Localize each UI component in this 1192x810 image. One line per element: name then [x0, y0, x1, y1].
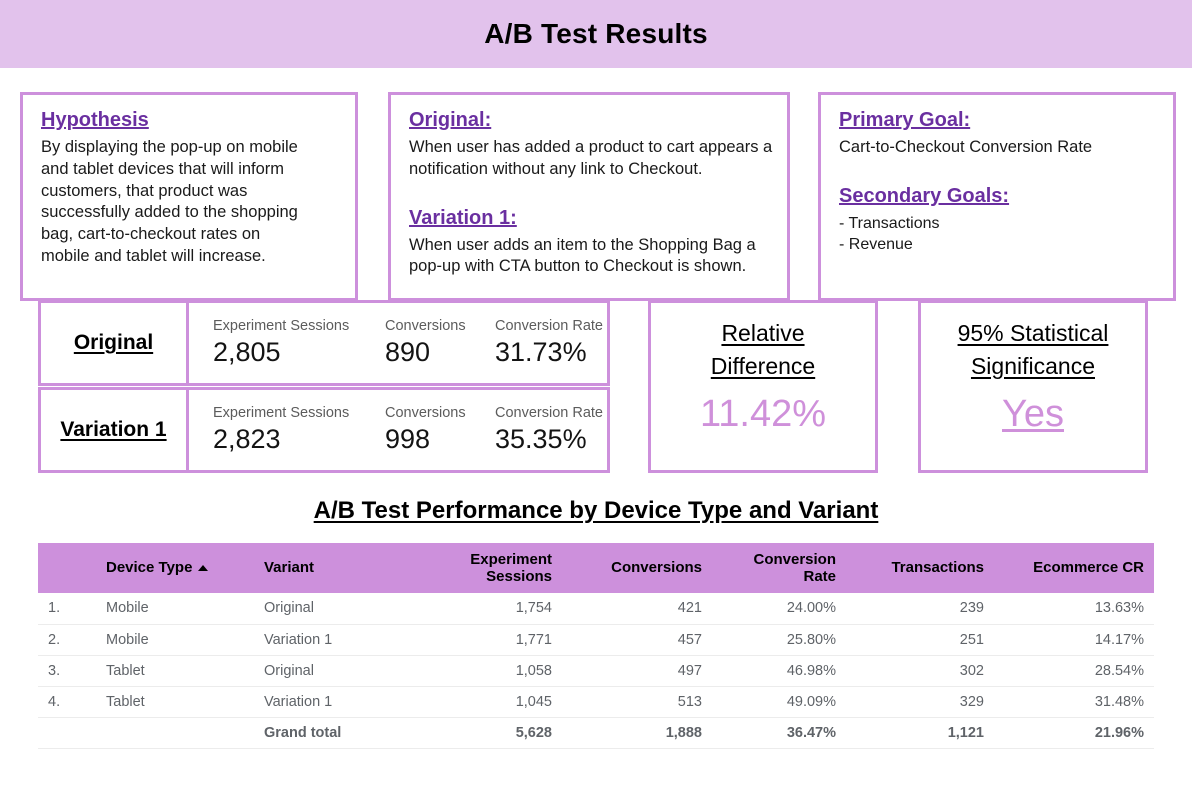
original-stats-block: Original Experiment Sessions 2,805 Conve…	[38, 300, 610, 386]
statistical-significance-title-line2: Significance	[971, 353, 1095, 379]
cell-conversions: 497	[562, 655, 712, 686]
column-header-index	[38, 543, 96, 593]
variation-metrics: Experiment Sessions 2,823 Conversions 99…	[189, 390, 615, 470]
cell-transactions: 302	[846, 655, 994, 686]
primary-goal-body: Cart-to-Checkout Conversion Rate	[839, 137, 1159, 159]
secondary-goal-transactions: - Transactions	[839, 213, 1159, 235]
page-header: A/B Test Results	[0, 0, 1192, 68]
cell-ecommerce-cr: 14.17%	[994, 624, 1154, 655]
performance-table-section: A/B Test Performance by Device Type and …	[0, 497, 1192, 749]
column-header-transactions[interactable]: Transactions	[846, 543, 994, 593]
grand-total-conversions: 1,888	[562, 717, 712, 748]
cell-sessions: 1,058	[412, 655, 562, 686]
table-header-row: Device Type Variant ExperimentSessions C…	[38, 543, 1154, 593]
stats-row: Original Experiment Sessions 2,805 Conve…	[0, 293, 1192, 483]
column-header-experiment-sessions[interactable]: ExperimentSessions	[412, 543, 562, 593]
secondary-goal-revenue: - Revenue	[839, 234, 1159, 256]
original-metrics: Experiment Sessions 2,805 Conversions 89…	[189, 303, 615, 383]
cell-variant: Variation 1	[254, 686, 412, 717]
table-body: 1. Mobile Original 1,754 421 24.00% 239 …	[38, 593, 1154, 748]
goals-card: Primary Goal: Cart-to-Checkout Conversio…	[818, 92, 1176, 301]
cell-device-type: Mobile	[96, 593, 254, 624]
cell-conversion-rate: 24.00%	[712, 593, 846, 624]
metric-label: Conversion Rate	[495, 406, 615, 422]
statistical-significance-value: Yes	[1002, 394, 1064, 436]
table-row[interactable]: 3. Tablet Original 1,058 497 46.98% 302 …	[38, 655, 1154, 686]
grand-total-ecommerce-cr: 21.96%	[994, 717, 1154, 748]
original-label: Original	[41, 303, 189, 383]
relative-difference-title: Relative Difference	[711, 317, 815, 382]
hypothesis-body: By displaying the pop-up on mobile and t…	[41, 137, 309, 268]
original-heading: Original:	[409, 107, 773, 134]
row-index: 4.	[38, 686, 96, 717]
cell-ecommerce-cr: 28.54%	[994, 655, 1154, 686]
statistical-significance-card: 95% Statistical Significance Yes	[918, 300, 1148, 473]
sort-ascending-icon	[198, 565, 208, 571]
metric-conversions: Conversions 998	[385, 406, 495, 454]
column-header-variant-label: Variant	[264, 559, 314, 576]
cell-transactions: 239	[846, 593, 994, 624]
cell-conversion-rate: 49.09%	[712, 686, 846, 717]
column-header-conversions[interactable]: Conversions	[562, 543, 712, 593]
column-header-conversion-rate-line2: Rate	[803, 568, 836, 585]
metric-experiment-sessions: Experiment Sessions 2,805	[213, 319, 385, 367]
cell-conversions: 457	[562, 624, 712, 655]
column-header-ecommerce-cr-label: Ecommerce CR	[1033, 559, 1144, 576]
grand-total-label: Grand total	[254, 717, 412, 748]
variation-description: When user adds an item to the Shopping B…	[409, 235, 773, 279]
cell-conversions: 421	[562, 593, 712, 624]
metric-value: 890	[385, 337, 495, 367]
cell-sessions: 1,771	[412, 624, 562, 655]
cell-device-type: Mobile	[96, 624, 254, 655]
page-title: A/B Test Results	[484, 18, 708, 50]
metric-conversion-rate: Conversion Rate 35.35%	[495, 406, 615, 454]
variation-label: Variation 1	[41, 390, 189, 470]
table-row[interactable]: 1. Mobile Original 1,754 421 24.00% 239 …	[38, 593, 1154, 624]
primary-goal-heading: Primary Goal:	[839, 107, 1159, 134]
row-index: 3.	[38, 655, 96, 686]
cell-conversion-rate: 25.80%	[712, 624, 846, 655]
cell-transactions: 329	[846, 686, 994, 717]
cell-variant: Variation 1	[254, 624, 412, 655]
grand-total-conversion-rate: 36.47%	[712, 717, 846, 748]
row-index: 1.	[38, 593, 96, 624]
original-description: When user has added a product to cart ap…	[409, 137, 773, 181]
cell-ecommerce-cr: 31.48%	[994, 686, 1154, 717]
relative-difference-value: 11.42%	[700, 394, 826, 436]
cell-ecommerce-cr: 13.63%	[994, 593, 1154, 624]
metric-experiment-sessions: Experiment Sessions 2,823	[213, 406, 385, 454]
metric-label: Experiment Sessions	[213, 406, 385, 422]
cell-variant: Original	[254, 593, 412, 624]
metric-label: Conversions	[385, 406, 495, 422]
hypothesis-heading: Hypothesis	[41, 107, 341, 134]
cell-device-type: Tablet	[96, 655, 254, 686]
relative-difference-card: Relative Difference 11.42%	[648, 300, 878, 473]
metric-label: Conversion Rate	[495, 319, 615, 335]
secondary-goals-heading: Secondary Goals:	[839, 183, 1159, 210]
column-header-variant[interactable]: Variant	[254, 543, 412, 593]
column-header-conversion-rate-line1: Conversion	[753, 551, 836, 568]
metric-label: Experiment Sessions	[213, 319, 385, 335]
table-row[interactable]: 4. Tablet Variation 1 1,045 513 49.09% 3…	[38, 686, 1154, 717]
table-row[interactable]: 2. Mobile Variation 1 1,771 457 25.80% 2…	[38, 624, 1154, 655]
cell-sessions: 1,045	[412, 686, 562, 717]
table-title: A/B Test Performance by Device Type and …	[0, 497, 1192, 525]
relative-difference-title-line2: Difference	[711, 353, 815, 379]
variants-description-card: Original: When user has added a product …	[388, 92, 790, 301]
metric-value: 35.35%	[495, 424, 615, 454]
metric-label: Conversions	[385, 319, 495, 335]
metric-value: 2,823	[213, 424, 385, 454]
metric-value: 2,805	[213, 337, 385, 367]
metric-value: 998	[385, 424, 495, 454]
statistical-significance-title-line1: 95% Statistical	[958, 320, 1109, 346]
column-header-transactions-label: Transactions	[891, 559, 984, 576]
variation-heading: Variation 1:	[409, 205, 773, 232]
metric-conversion-rate: Conversion Rate 31.73%	[495, 319, 615, 367]
hypothesis-card: Hypothesis By displaying the pop-up on m…	[20, 92, 358, 301]
cell-device-type: Tablet	[96, 686, 254, 717]
cell-conversion-rate: 46.98%	[712, 655, 846, 686]
table-header: Device Type Variant ExperimentSessions C…	[38, 543, 1154, 593]
statistical-significance-title: 95% Statistical Significance	[958, 317, 1109, 382]
cell-conversions: 513	[562, 686, 712, 717]
cell-sessions: 1,754	[412, 593, 562, 624]
performance-table: Device Type Variant ExperimentSessions C…	[38, 543, 1154, 749]
metric-value: 31.73%	[495, 337, 615, 367]
grand-total-sessions: 5,628	[412, 717, 562, 748]
info-cards-row: Hypothesis By displaying the pop-up on m…	[0, 68, 1192, 293]
column-header-ecommerce-cr[interactable]: Ecommerce CR	[994, 543, 1154, 593]
row-index: 2.	[38, 624, 96, 655]
column-header-conversion-rate[interactable]: ConversionRate	[712, 543, 846, 593]
cell-variant: Original	[254, 655, 412, 686]
column-header-experiment-sessions-line2: Sessions	[486, 568, 552, 585]
variation-stats-block: Variation 1 Experiment Sessions 2,823 Co…	[38, 387, 610, 473]
column-header-device-type[interactable]: Device Type	[96, 543, 254, 593]
grand-total-spacer	[96, 717, 254, 748]
grand-total-row: Grand total 5,628 1,888 36.47% 1,121 21.…	[38, 717, 1154, 748]
grand-total-index	[38, 717, 96, 748]
relative-difference-title-line1: Relative	[721, 320, 804, 346]
column-header-conversions-label: Conversions	[611, 559, 702, 576]
grand-total-transactions: 1,121	[846, 717, 994, 748]
column-header-device-type-label: Device Type	[106, 559, 192, 576]
metric-conversions: Conversions 890	[385, 319, 495, 367]
column-header-experiment-sessions-line1: Experiment	[470, 551, 552, 568]
cell-transactions: 251	[846, 624, 994, 655]
